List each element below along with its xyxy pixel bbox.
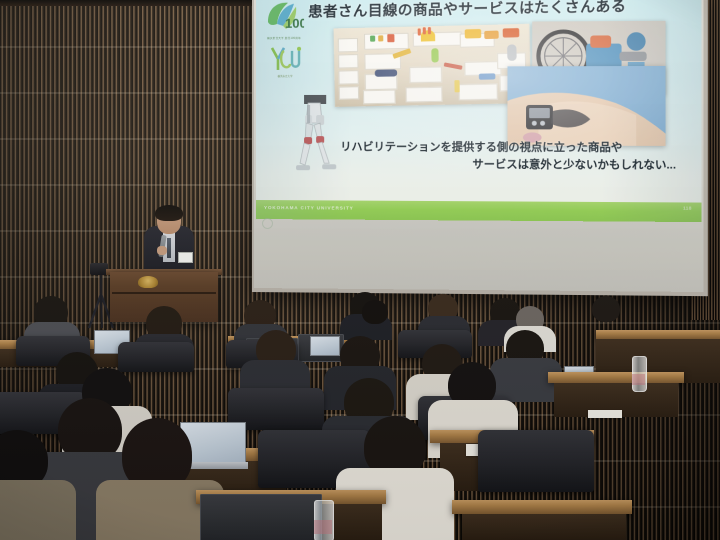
presenter-tie xyxy=(167,238,171,258)
presentation-slide: 100 横浜市立大学 創立100周年 横浜市立大学 患者さん目線の商品やサービス… xyxy=(256,0,701,222)
desk xyxy=(596,330,720,339)
ycu-logo-caption: 横浜市立大学 xyxy=(262,75,308,83)
bottle-label xyxy=(632,374,645,385)
paper-sheet xyxy=(588,410,622,418)
audience-head xyxy=(592,296,620,322)
product-board-photo xyxy=(334,24,531,107)
laptop-screen xyxy=(310,336,340,356)
desk-front xyxy=(462,514,626,540)
chair-back xyxy=(118,342,194,372)
podium-emblem xyxy=(138,276,158,288)
slide-subtitle-line2: サービスは意外と少ないかもしれない... xyxy=(334,156,684,174)
presenter-hand xyxy=(157,246,167,255)
chair-back xyxy=(478,430,594,492)
presenter-name-badge xyxy=(178,252,193,263)
slide-footer-bar: YOKOHAMA CITY UNIVERSITY 118 xyxy=(256,200,701,222)
slide-subtitle-line1: リハビリテーションを提供する側の視点に立った商品や xyxy=(334,139,684,157)
anniversary-100-logo: 100 xyxy=(264,0,304,38)
hand-controller-photo xyxy=(507,66,665,146)
lecture-hall-photo: 100 横浜市立大学 創立100周年 横浜市立大学 患者さん目線の商品やサービス… xyxy=(0,0,720,540)
bottle-label xyxy=(314,520,332,534)
slide-number: 118 xyxy=(683,206,692,211)
desk xyxy=(452,500,632,514)
presenter-hair xyxy=(155,205,183,221)
audience-torso xyxy=(0,480,76,540)
screen-corner-mark xyxy=(262,218,273,229)
laptop-lid xyxy=(200,494,322,540)
slide-footer-university-label: YOKOHAMA CITY UNIVERSITY xyxy=(264,205,354,211)
exoskeleton-robot-illustration xyxy=(286,89,340,181)
svg-text:100: 100 xyxy=(285,16,304,31)
slide-subtitle: リハビリテーションを提供する側の視点に立った商品や サービスは意外と少ないかもし… xyxy=(334,139,684,175)
podium-trim-line xyxy=(112,292,216,294)
audience-head xyxy=(362,300,388,324)
desk xyxy=(548,372,684,383)
slide-title: 患者さん目線の商品やサービスはたくさんある xyxy=(308,0,647,22)
ycu-logo xyxy=(268,43,302,77)
